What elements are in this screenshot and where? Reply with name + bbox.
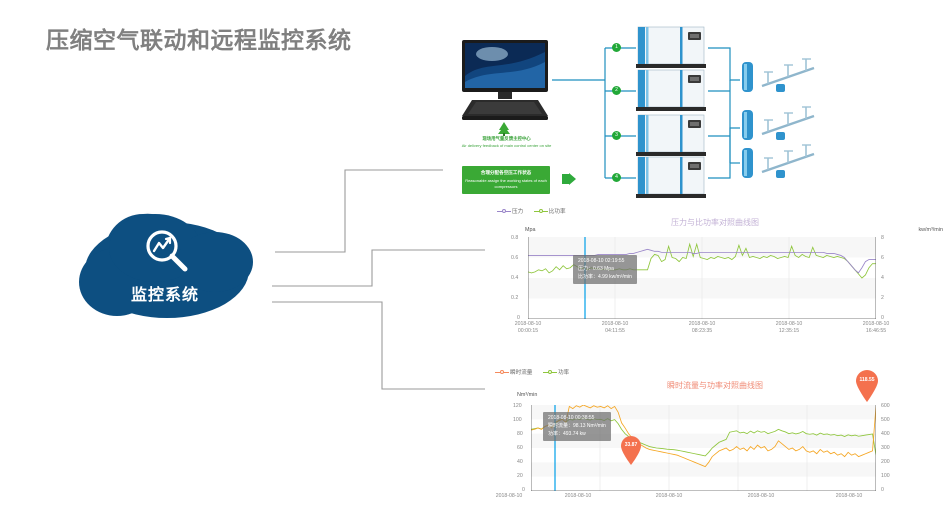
chart2-xtick-4-date: 2018-08-10 — [825, 493, 873, 500]
legend-marker-pressure — [497, 208, 511, 214]
node-dot-2: 2 — [612, 86, 621, 95]
compressor-unit-4 — [636, 156, 708, 200]
chart1-xtick-2-time: 08:23:35 — [678, 328, 726, 335]
chart2-y2tick-6: 0 — [881, 487, 884, 493]
compressor-unit-1 — [636, 26, 708, 70]
chart2-ytick-1: 100 — [513, 417, 522, 423]
chart-pressure-vs-specific-power: 压力 比功率 压力与比功率对照曲线图 Mpa kw/m³/min 0.8 0.6… — [485, 205, 945, 333]
chart1-ytick-0: 0.8 — [511, 235, 518, 241]
chart1-ytick-3: 0.2 — [511, 295, 518, 301]
chart1-legend-item-0[interactable]: 压力 — [497, 207, 523, 215]
chart2-legend: 瞬时流量 功率 — [495, 368, 578, 376]
connector-cloud-to-topology — [275, 168, 445, 260]
chart2-xtick-3: 2018-08-10 — [737, 493, 785, 500]
balloon-pin-icon — [854, 369, 880, 402]
chart2-xtick-4: 2018-08-10 — [825, 493, 873, 500]
chart2-balloon-0[interactable]: 33.87 — [619, 435, 643, 470]
chart2-ytick-2: 80 — [517, 431, 523, 437]
chart1-y2tick-0: 8 — [881, 235, 884, 241]
node-dot-1: 1 — [612, 43, 621, 52]
chart2-xtick-3-date: 2018-08-10 — [737, 493, 785, 500]
chart1-ytick-1: 0.6 — [511, 255, 518, 261]
chart1-y2label: kw/m³/min — [918, 227, 943, 233]
connector-cloud-to-chart-1 — [272, 248, 487, 288]
chart1-xtick-2: 2018-08-10 08:23:35 — [678, 321, 726, 334]
chart2-xtick-1-date: 2018-08-10 — [554, 493, 602, 500]
chart2-y2tick-5: 100 — [881, 473, 890, 479]
compressor-unit-3 — [636, 114, 708, 158]
slide-canvas: 压缩空气联动和远程监控系统 — [0, 0, 945, 529]
chart1-xtick-0: 2018-08-10 00:00:15 — [504, 321, 552, 334]
chart1-xtick-4: 2018-08-10 16:46:55 — [852, 321, 900, 334]
chart1-tooltip-timestamp: 2018-08-10 02:19:55 — [578, 258, 632, 266]
chart-instant-flow-vs-power: 瞬时流量 功率 瞬时流量与功率对照曲线图 Nm³/min 120 100 80 … — [485, 366, 945, 526]
chart2-balloon-0-value: 33.87 — [619, 442, 643, 448]
chart2-y2tick-2: 400 — [881, 431, 890, 437]
cloud-label: 监控系统 — [45, 281, 285, 305]
chart2-y2tick-4: 200 — [881, 459, 890, 465]
chart2-tooltip: 2018-08-10 00:38:55 瞬时流量：98.13 Nm³/min 功… — [543, 412, 611, 441]
chart1-legend: 压力 比功率 — [497, 207, 575, 215]
legend-marker-instant-flow — [495, 369, 509, 375]
chart2-ytick-0: 120 — [513, 403, 522, 409]
compressor-unit-2 — [636, 69, 708, 113]
air-tank-group-1 — [740, 58, 818, 98]
chart1-ylabel: Mpa — [525, 227, 536, 233]
chart2-legend-item-0[interactable]: 瞬时流量 — [495, 368, 532, 376]
chart2-xtick-2-date: 2018-08-10 — [645, 493, 693, 500]
chart2-y2tick-3: 300 — [881, 445, 890, 451]
chart1-title: 压力与比功率对照曲线图 — [485, 217, 945, 228]
chart1-y2tick-2: 4 — [881, 275, 884, 281]
chart2-tooltip-line1: 瞬时流量：98.13 Nm³/min — [548, 423, 606, 431]
chart1-xtick-1: 2018-08-10 04:11:55 — [591, 321, 639, 334]
chart2-y2tick-1: 500 — [881, 417, 890, 423]
chart2-ytick-5: 20 — [517, 473, 523, 479]
air-tank-group-3 — [740, 144, 818, 184]
monitoring-cloud[interactable]: 监控系统 — [45, 200, 285, 335]
chart1-y2tick-1: 6 — [881, 255, 884, 261]
chart1-legend-item-1[interactable]: 比功率 — [534, 207, 566, 215]
chart1-tooltip-line2: 比功率：4.99 kw/m³/min — [578, 274, 632, 282]
chart1-ytick-2: 0.4 — [511, 275, 518, 281]
chart2-tooltip-line2: 功率：493.74 kw — [548, 431, 606, 439]
chart2-xtick-2: 2018-08-10 — [645, 493, 693, 500]
chart2-legend-item-1[interactable]: 功率 — [543, 368, 569, 376]
magnifier-chart-icon — [142, 226, 192, 276]
chart2-tooltip-timestamp: 2018-08-10 00:38:55 — [548, 415, 606, 423]
chart2-ylabel: Nm³/min — [517, 392, 537, 398]
topology-diagram: 现场用气量反馈主控中心 Air delivery feedback of mai… — [440, 18, 940, 208]
legend-marker-power — [543, 369, 557, 375]
chart2-balloon-1[interactable]: 118.55 — [854, 369, 880, 407]
connector-cloud-to-chart-2 — [272, 300, 487, 392]
chart1-y2tick-3: 2 — [881, 295, 884, 301]
chart2-xtick-0-date: 2018-08-10 — [485, 493, 533, 500]
chart2-y2tick-0: 600 — [881, 403, 890, 409]
node-dot-3: 3 — [612, 131, 621, 140]
chart1-xtick-0-time: 00:00:15 — [504, 328, 552, 335]
page-title: 压缩空气联动和远程监控系统 — [46, 21, 352, 55]
chart1-tooltip-line1: 压力：0.63 Mpa — [578, 266, 632, 274]
chart1-xtick-3-time: 12:35:15 — [765, 328, 813, 335]
chart2-ytick-4: 40 — [517, 459, 523, 465]
air-tank-group-2 — [740, 106, 818, 146]
node-dot-4: 4 — [612, 173, 621, 182]
chart1-xtick-4-time: 16:46:55 — [852, 328, 900, 335]
chart1-xtick-3: 2018-08-10 12:35:15 — [765, 321, 813, 334]
legend-marker-specific-power — [534, 208, 548, 214]
chart2-xtick-1: 2018-08-10 — [554, 493, 602, 500]
chart2-balloon-1-value: 118.55 — [854, 377, 880, 383]
chart2-xtick-0: 2018-08-10 — [485, 493, 533, 500]
balloon-pin-icon — [619, 435, 643, 465]
chart1-tooltip: 2018-08-10 02:19:55 压力：0.63 Mpa 比功率：4.99… — [573, 255, 637, 284]
chart2-ytick-3: 60 — [517, 445, 523, 451]
chart1-xtick-1-time: 04:11:55 — [591, 328, 639, 335]
